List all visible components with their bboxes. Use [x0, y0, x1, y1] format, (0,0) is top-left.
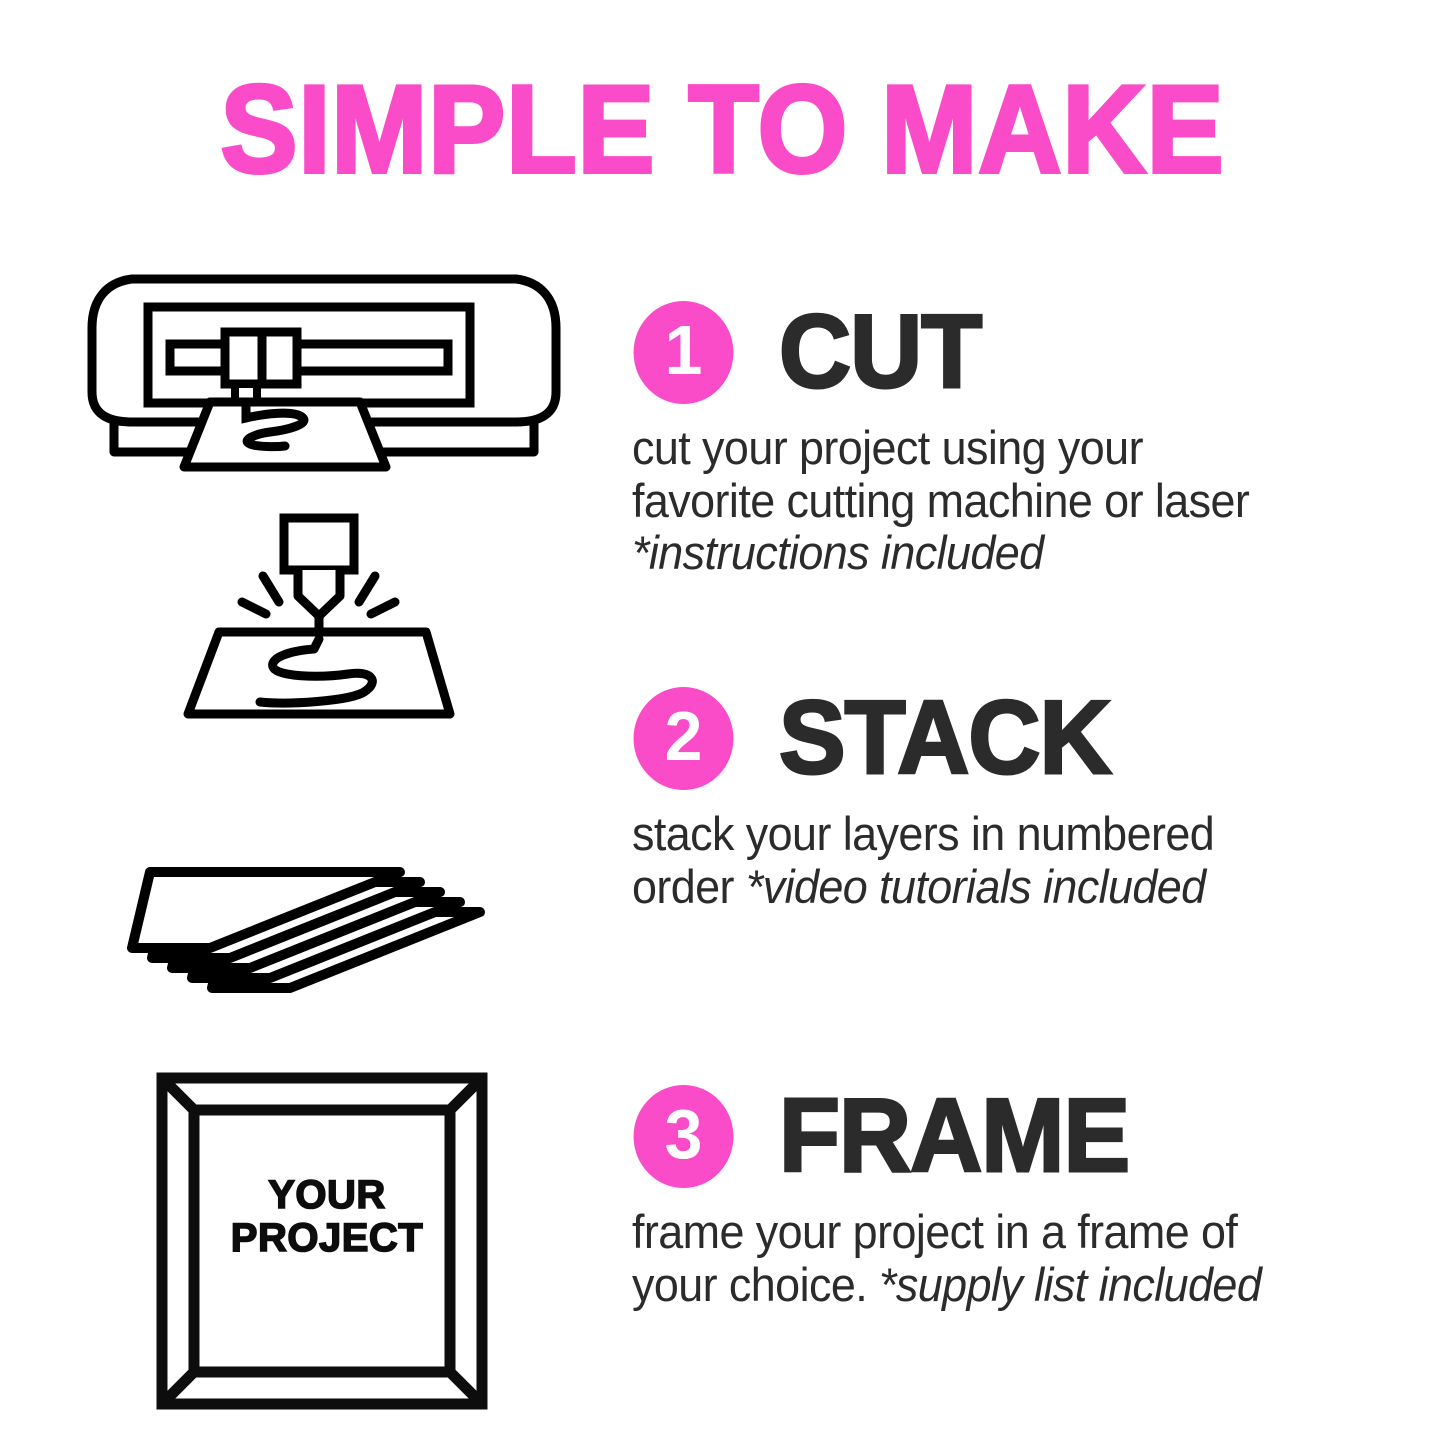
step-frame-body-line-2-prefix: your choice.	[632, 1258, 879, 1311]
step-frame-body-line-1: frame your project in a frame of	[632, 1206, 1386, 1259]
step-frame-body-line-2-italic: *supply list included	[879, 1258, 1261, 1311]
step-cut-body-line-1: cut your project using your	[632, 422, 1386, 475]
step-number-badge-2: 2	[634, 687, 734, 790]
step-cut-title: CUT	[779, 300, 981, 404]
step-number-badge-3: 3	[634, 1085, 734, 1188]
step-cut: 1 CUT cut your project using your favori…	[632, 296, 1422, 580]
step-frame: 3 FRAME frame your project in a frame of…	[632, 1080, 1422, 1311]
step-stack: 2 STACK stack your layers in numbered or…	[632, 682, 1422, 913]
step-stack-body-line-2-italic: *video tutorials included	[746, 860, 1206, 913]
step-number-badge-1: 1	[634, 301, 734, 404]
step-stack-body-line-2-prefix: order	[632, 860, 746, 913]
step-stack-body-line-2: order *video tutorials included	[632, 861, 1386, 914]
step-stack-title: STACK	[779, 686, 1111, 790]
picture-frame-icon	[152, 1068, 502, 1429]
step-stack-body-line-1: stack your layers in numbered	[632, 808, 1386, 861]
step-frame-title: FRAME	[779, 1084, 1129, 1188]
step-stack-body: stack your layers in numbered order *vid…	[632, 808, 1386, 913]
step-frame-body-line-2: your choice. *supply list included	[632, 1259, 1386, 1312]
infographic-canvas: SIMPLE TO MAKE	[0, 0, 1445, 1445]
step-frame-heading: 3 FRAME	[632, 1080, 1422, 1192]
step-cut-body-line-3: *instructions included	[632, 527, 1386, 580]
cutting-machine-icon	[78, 262, 570, 489]
step-cut-body: cut your project using your favorite cut…	[632, 422, 1386, 580]
page-title: SIMPLE TO MAKE	[51, 68, 1395, 192]
step-cut-heading: 1 CUT	[632, 296, 1422, 408]
step-frame-body: frame your project in a frame of your ch…	[632, 1206, 1386, 1311]
step-cut-body-line-2: favorite cutting machine or laser	[632, 475, 1386, 528]
step-stack-heading: 2 STACK	[632, 682, 1422, 794]
stacked-layers-icon	[108, 798, 540, 1005]
laser-cutter-icon	[178, 506, 460, 733]
